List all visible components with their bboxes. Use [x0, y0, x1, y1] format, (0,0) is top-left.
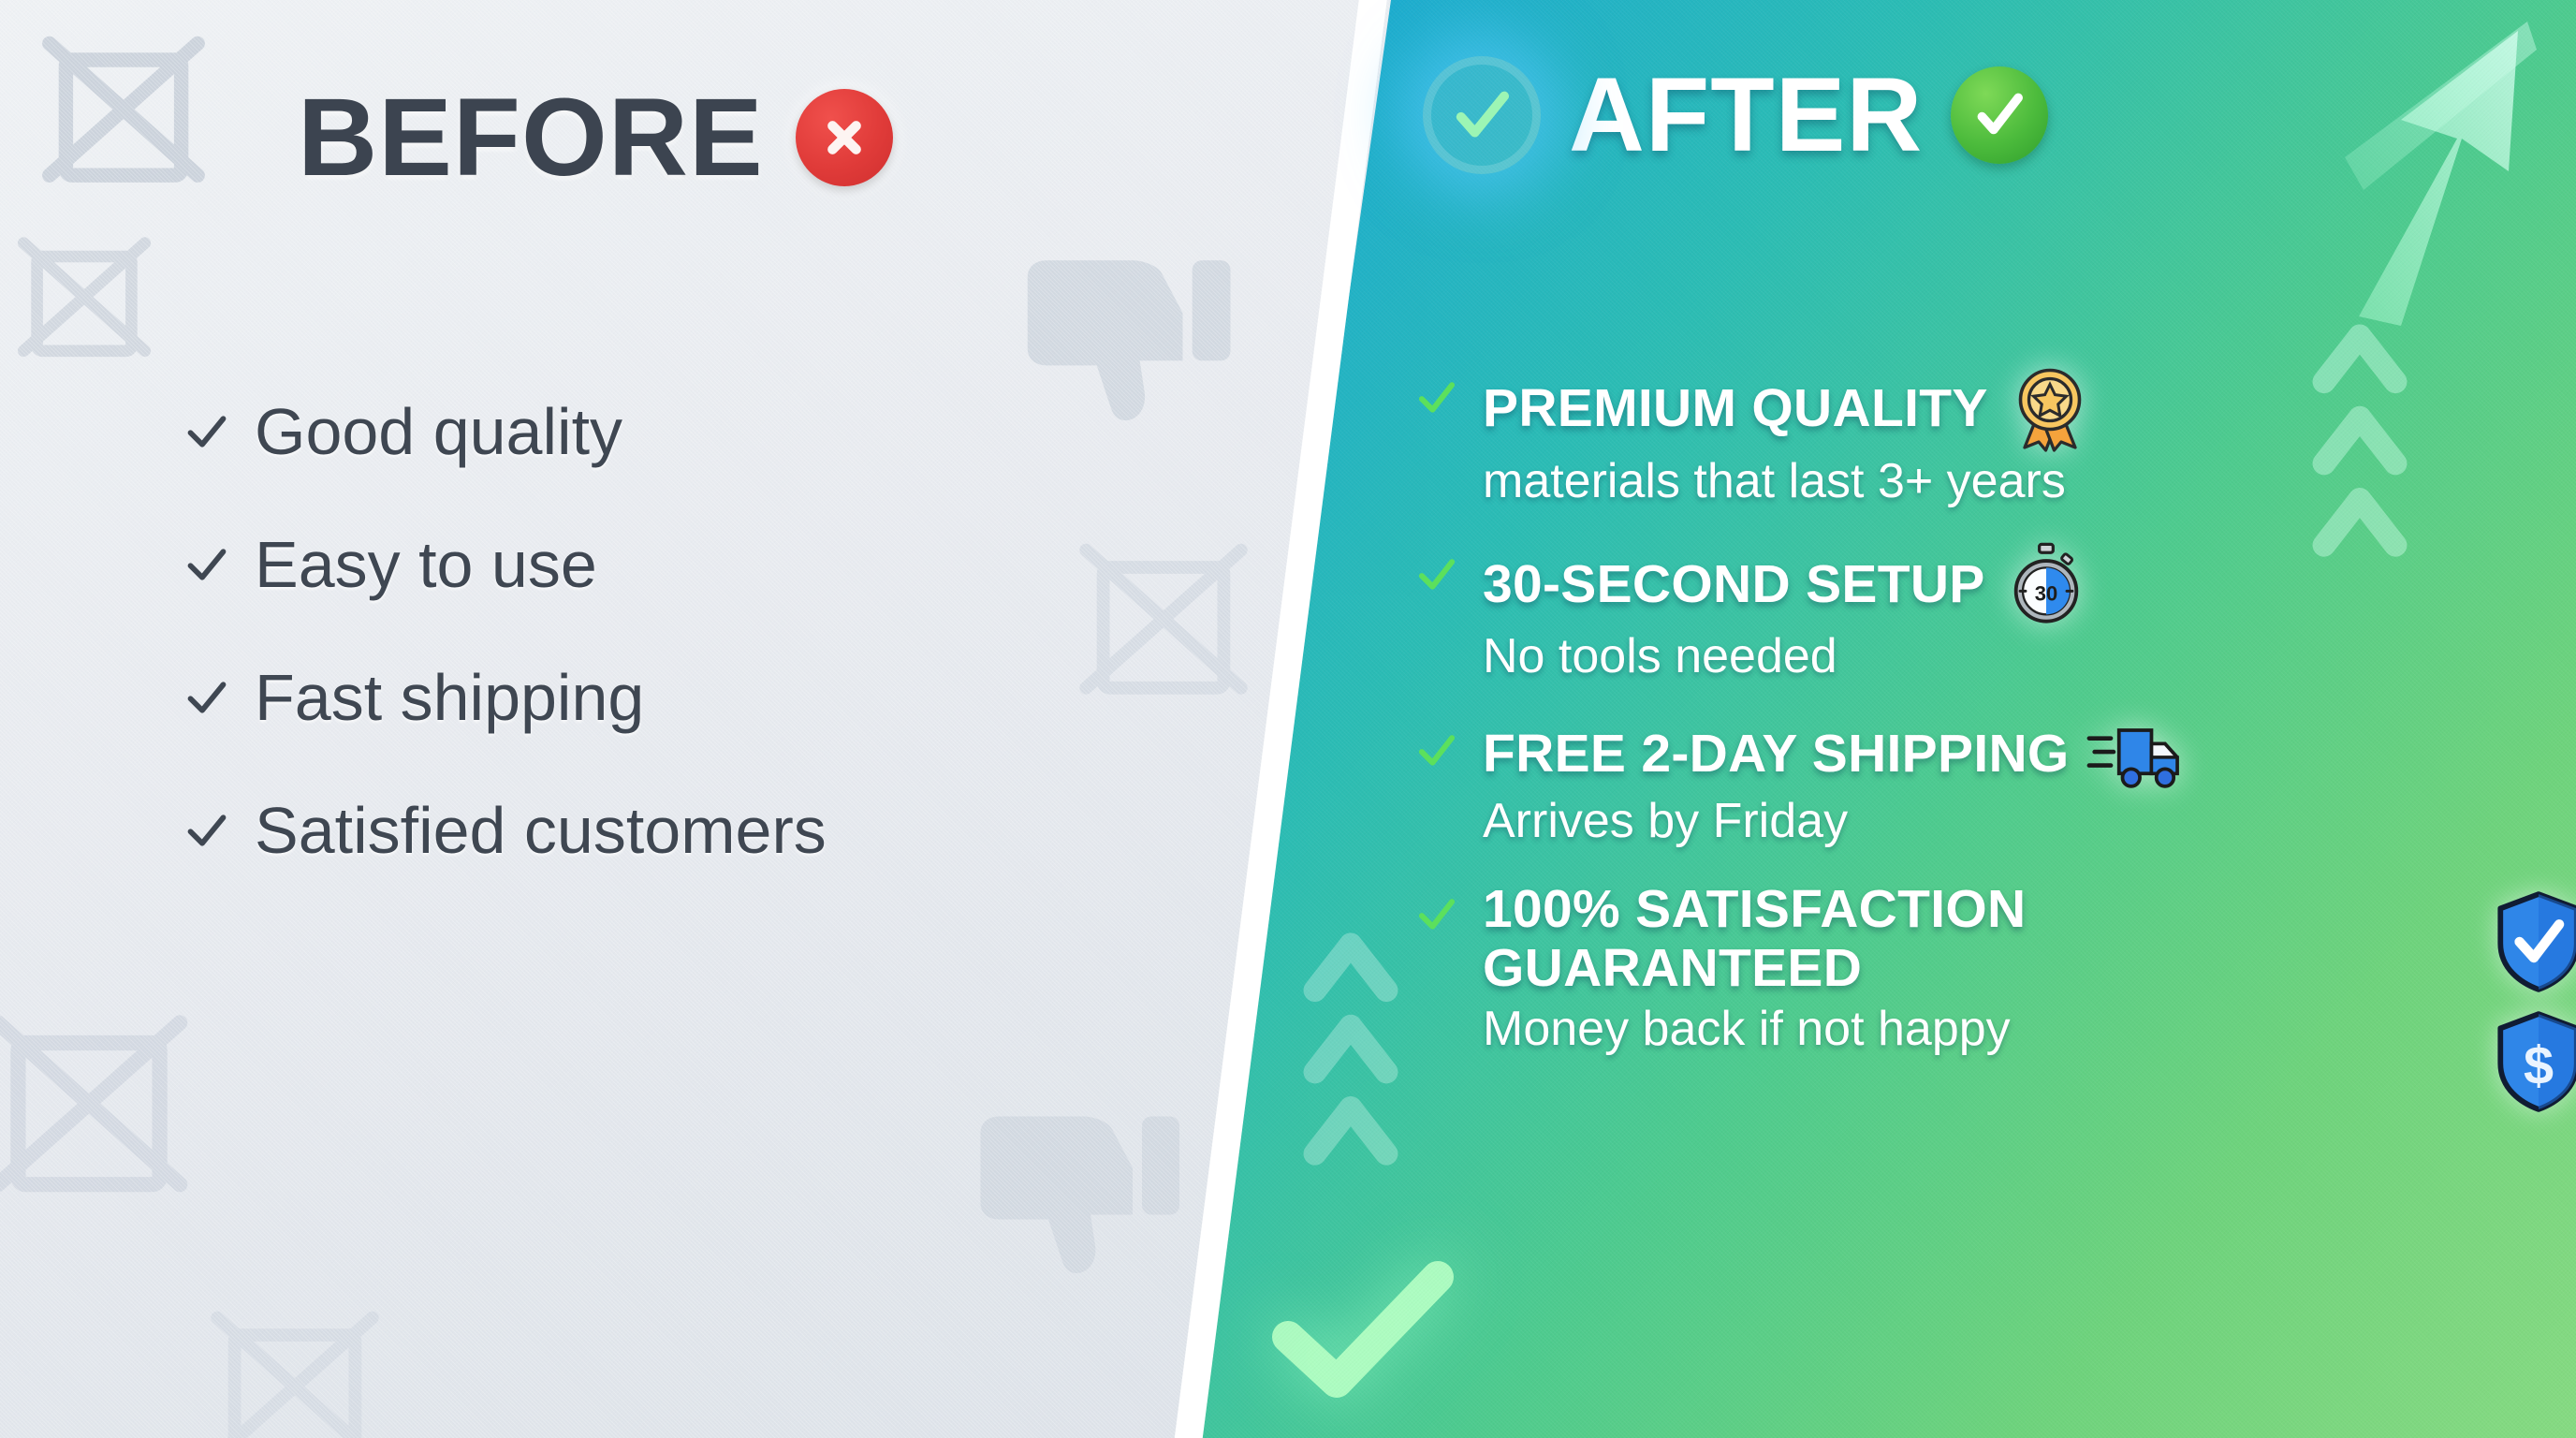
list-item-texts: FREE 2-DAY SHIPPING — [1483, 716, 2576, 850]
glow-check-icon — [1423, 56, 1541, 174]
shield-dollar-icon: $ — [2494, 1009, 2576, 1114]
list-item-texts: 30-SECOND SETUP 30 — [1483, 540, 2576, 685]
list-item-sub: materials that last 3+ years — [1483, 454, 2066, 508]
after-title: AFTER — [1569, 63, 1923, 168]
delivery-truck-icon — [2086, 716, 2189, 793]
list-item-heading-row: 30-SECOND SETUP 30 — [1483, 540, 2576, 628]
list-item: FREE 2-DAY SHIPPING — [1415, 716, 2576, 850]
check-circle-icon — [1951, 66, 2048, 164]
list-item: 100% SATISFACTION GUARANTEED Money back … — [1415, 880, 2576, 1059]
check-icon — [1415, 729, 1458, 772]
before-after-comparison-graphic: BEFORE Good quality Easy to use — [0, 0, 2576, 1438]
check-icon — [1415, 376, 1458, 419]
list-item-heading-row: FREE 2-DAY SHIPPING — [1483, 716, 2576, 793]
list-item-heading: FREE 2-DAY SHIPPING — [1483, 725, 2070, 784]
check-icon — [1415, 893, 1458, 936]
list-item-heading: 100% SATISFACTION GUARANTEED — [1483, 880, 2361, 997]
list-item-sub: Money back if not happy — [1483, 1001, 2361, 1058]
list-item-heading-row: PREMIUM QUALITY — [1483, 363, 2576, 453]
list-item: PREMIUM QUALITY materials that last 3+ — [1415, 363, 2576, 510]
list-item-sub: No tools needed — [1483, 629, 1837, 683]
after-content: AFTER PREMIUM QUALITY — [0, 0, 2576, 1438]
after-header: AFTER — [1423, 56, 2048, 174]
list-item-heading: PREMIUM QUALITY — [1483, 379, 1988, 438]
list-item-heading: 30-SECOND SETUP — [1483, 555, 1985, 614]
after-benefit-list: PREMIUM QUALITY materials that last 3+ — [1415, 363, 2576, 1089]
list-item-texts: PREMIUM QUALITY materials that last 3+ — [1483, 363, 2576, 510]
award-medal-icon — [2005, 363, 2095, 453]
list-item-sub: Arrives by Friday — [1483, 794, 1848, 848]
shield-check-icon — [2494, 889, 2576, 994]
check-icon — [1415, 553, 1458, 596]
svg-text:30: 30 — [2034, 582, 2057, 606]
guarantee-icons: $ — [2494, 889, 2576, 1114]
list-item-texts: 100% SATISFACTION GUARANTEED Money back … — [1483, 880, 2361, 1059]
list-item: 30-SECOND SETUP 30 — [1415, 540, 2576, 685]
svg-text:$: $ — [2524, 1036, 2554, 1096]
stopwatch-icon: 30 — [2002, 540, 2090, 628]
